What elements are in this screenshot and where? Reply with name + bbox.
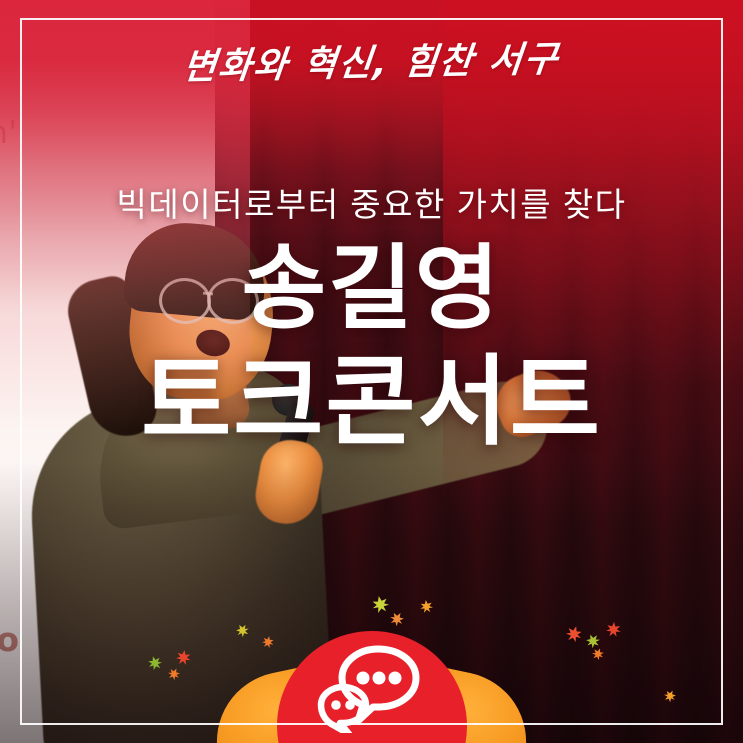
speaker-name-headline: 송길영	[0, 243, 743, 335]
event-type-headline: 토크콘서트	[0, 352, 743, 450]
poster-subtitle: 빅데이터로부터 중요한 가치를 찾다	[0, 178, 743, 226]
poster-canvas: e be 'in' u are ut to g'. le ns, ing vel…	[0, 0, 743, 743]
chat-bubbles-icon	[316, 643, 428, 733]
